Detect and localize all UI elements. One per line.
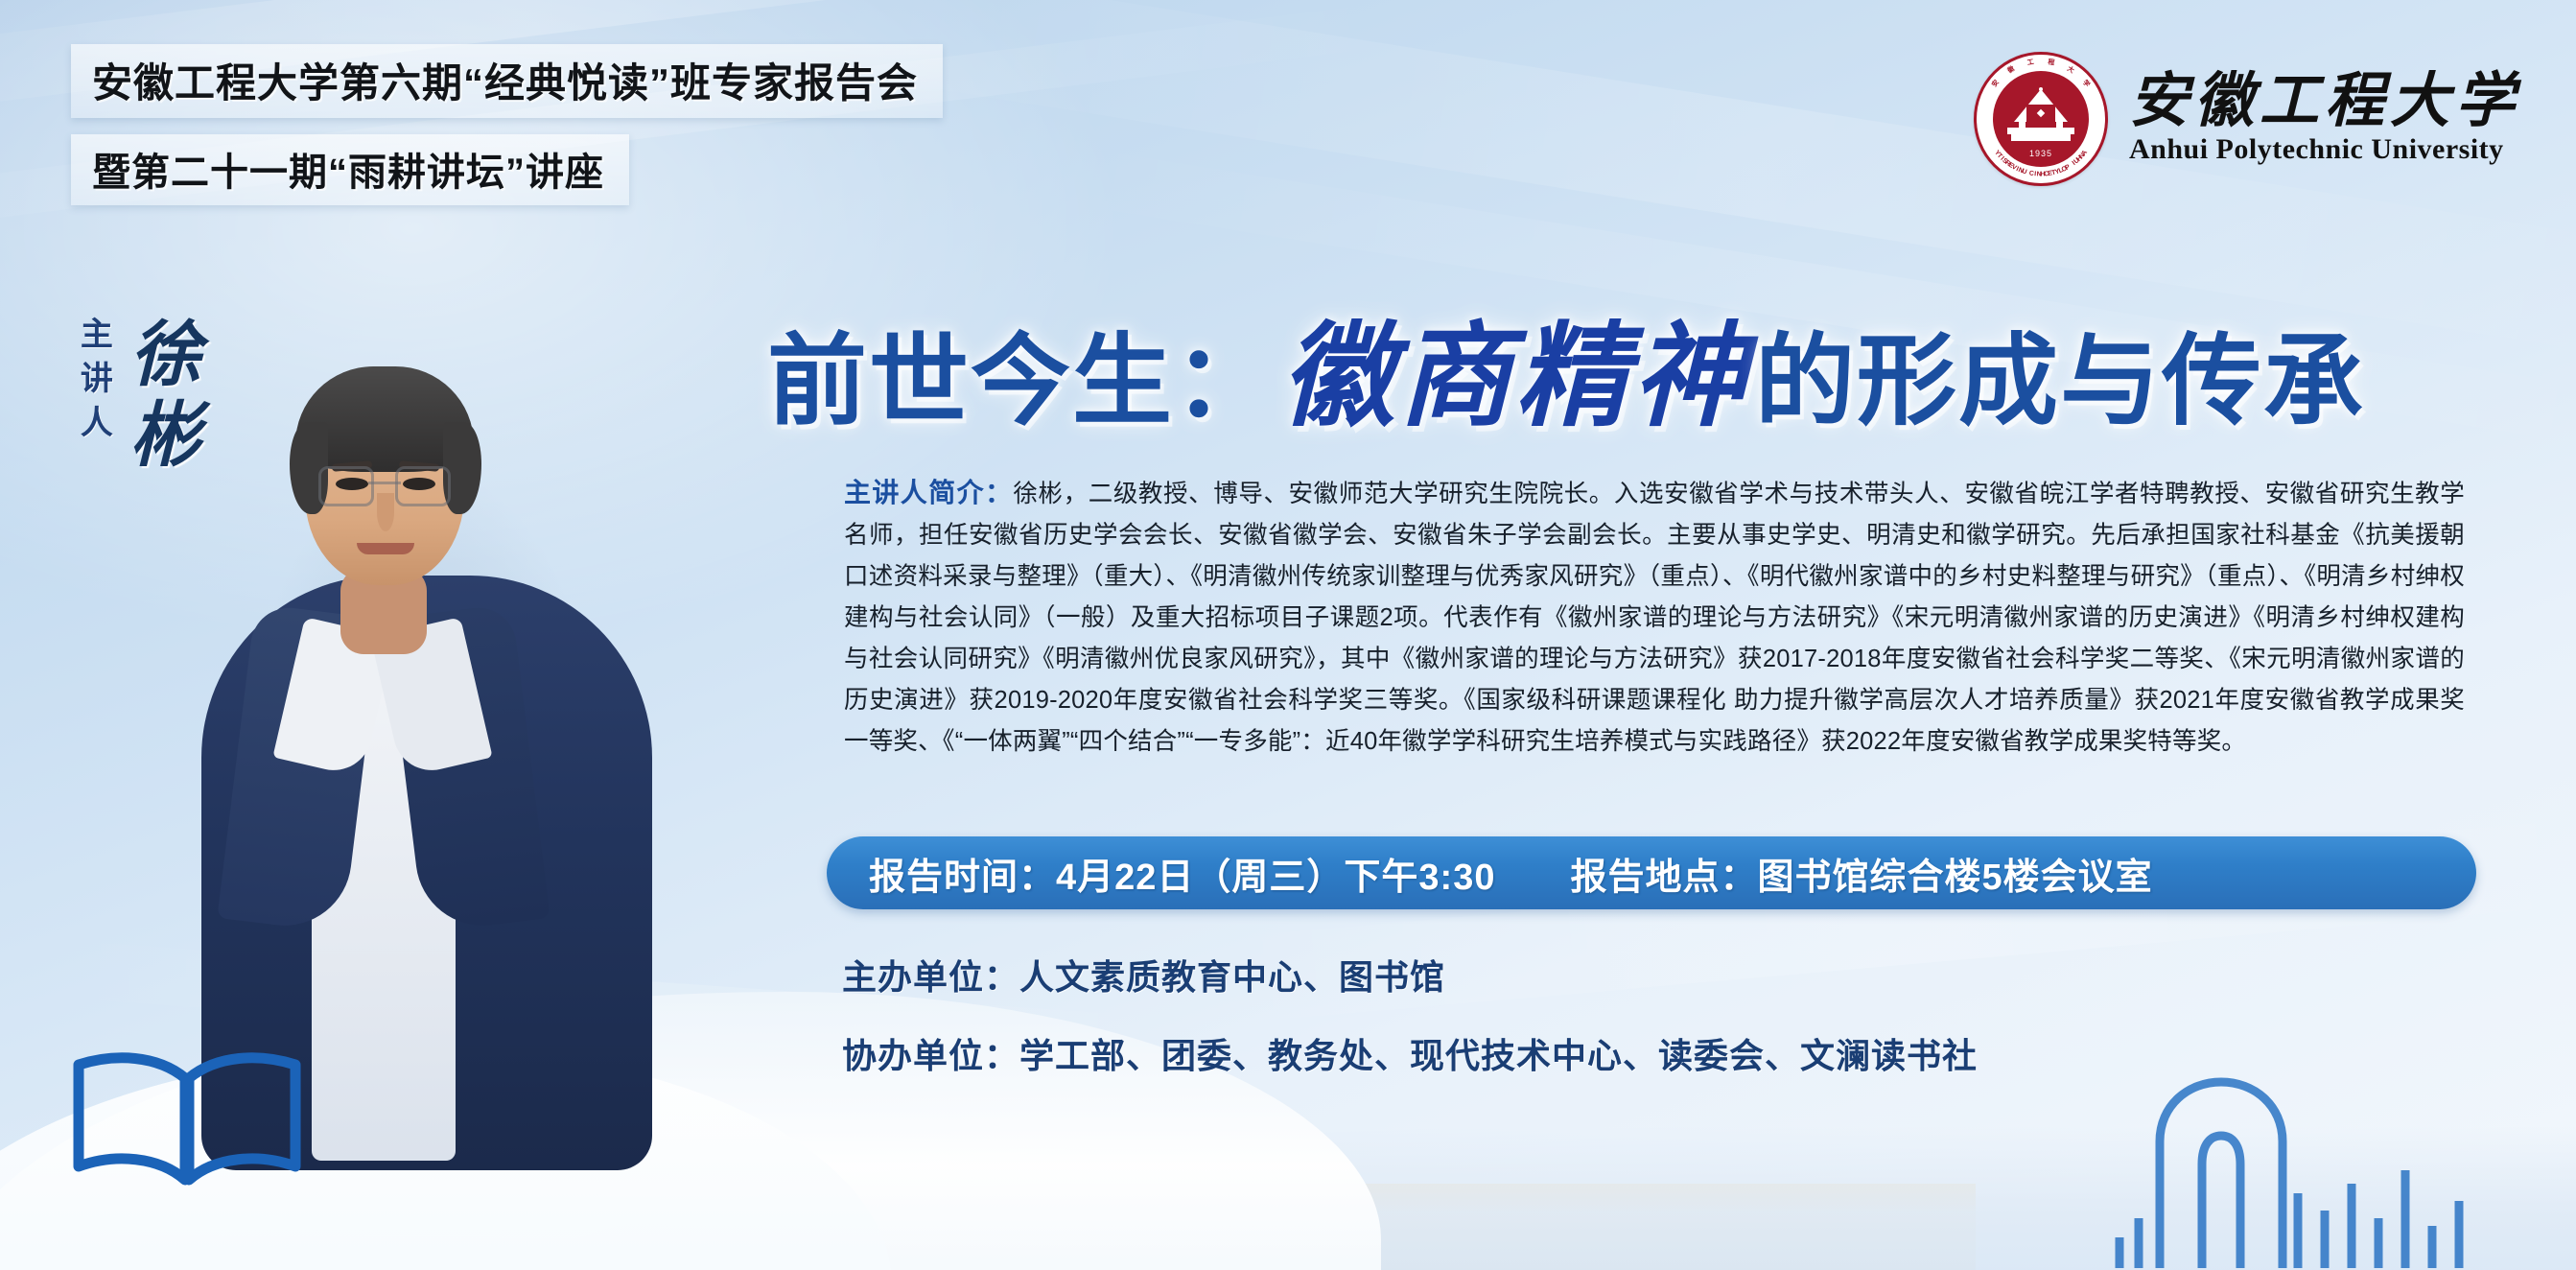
event-time: 报告时间：4月22日（周三）下午3:30: [869, 847, 1495, 900]
background-streak: [0, 3, 1391, 246]
university-crest-icon: 安徽工程大学ANHUI POLYTECHNIC UNIVERSITY 1935: [1974, 52, 2108, 186]
crest-ring-char: 程: [2047, 57, 2055, 67]
speaker-bio-text: 徐彬，二级教授、博导、安徽师范大学研究生院院长。入选安徽省学术与技术带头人、安徽…: [844, 481, 2465, 755]
background-sand-band: [537, 1184, 1976, 1270]
portrait-nose: [377, 493, 394, 531]
host-organizer: 主办单位：人文素质教育中心、图书馆: [842, 950, 1445, 1000]
title-part-1: 前世今生：: [767, 299, 1276, 444]
speaker-role-vertical: 主讲人: [75, 317, 110, 449]
library-buildings-icon: [2096, 1049, 2509, 1270]
header-line-1-text: 安徽工程大学第六期“经典悦读”班专家报告会: [92, 51, 918, 109]
poster-canvas: 安徽工程大学第六期“经典悦读”班专家报告会 暨第二十一期“雨耕讲坛”讲座 安徽工…: [0, 0, 2576, 1270]
header-line-1: 安徽工程大学第六期“经典悦读”班专家报告会: [71, 44, 943, 118]
university-name-cn: 安徽工程大学: [2129, 72, 2520, 131]
crest-ring-char: 工: [2026, 57, 2035, 67]
title-part-3: 的形成与传承: [1755, 299, 2365, 444]
crest-ring-char: 学: [2080, 78, 2092, 89]
university-logo: 安徽工程大学ANHUI POLYTECHNIC UNIVERSITY 1935 …: [1974, 52, 2520, 186]
crest-ring-char: N: [2036, 171, 2041, 177]
speaker-portrait: [144, 288, 700, 1151]
crest-year: 1935: [1977, 149, 2105, 158]
university-name-en: Anhui Polytechnic University: [2129, 133, 2520, 166]
crest-gate-glyph: [2005, 87, 2076, 154]
event-place: 报告地点：图书馆综合楼5楼会议室: [1570, 847, 2152, 900]
crest-ring-char: 徽: [2005, 64, 2016, 76]
page-title: 前世今生： 徽商精神 的形成与传承: [767, 284, 2365, 448]
event-info-bar: 报告时间：4月22日（周三）下午3:30 报告地点：图书馆综合楼5楼会议室: [827, 836, 2476, 909]
open-book-icon: [58, 1046, 316, 1189]
speaker-bio-paragraph: 主讲人简介：徐彬，二级教授、博导、安徽师范大学研究生院院长。入选安徽省学术与技术…: [844, 472, 2465, 763]
title-part-2-calligraphy: 徽商精神: [1276, 284, 1755, 448]
co-host-organizer: 协办单位：学工部、团委、教务处、现代技术中心、读委会、文澜读书社: [842, 1028, 1978, 1078]
crest-ring-char: 大: [2065, 64, 2075, 76]
speaker-bio-panel: 主讲人简介：徐彬，二级教授、博导、安徽师范大学研究生院院长。入选安徽省学术与技术…: [844, 472, 2465, 763]
portrait-mouth: [357, 543, 414, 554]
header-line-2-text: 暨第二十一期“雨耕讲坛”讲座: [92, 141, 604, 197]
header-line-2-plate: 暨第二十一期“雨耕讲坛”讲座: [71, 134, 629, 205]
header-line-2: 暨第二十一期“雨耕讲坛”讲座: [71, 134, 629, 205]
header-line-1-plate: 安徽工程大学第六期“经典悦读”班专家报告会: [71, 44, 943, 118]
university-name-block: 安徽工程大学 Anhui Polytechnic University: [2129, 72, 2520, 166]
speaker-bio-lead: 主讲人简介：: [844, 478, 1013, 507]
crest-ring-char: 安: [1990, 78, 2002, 89]
